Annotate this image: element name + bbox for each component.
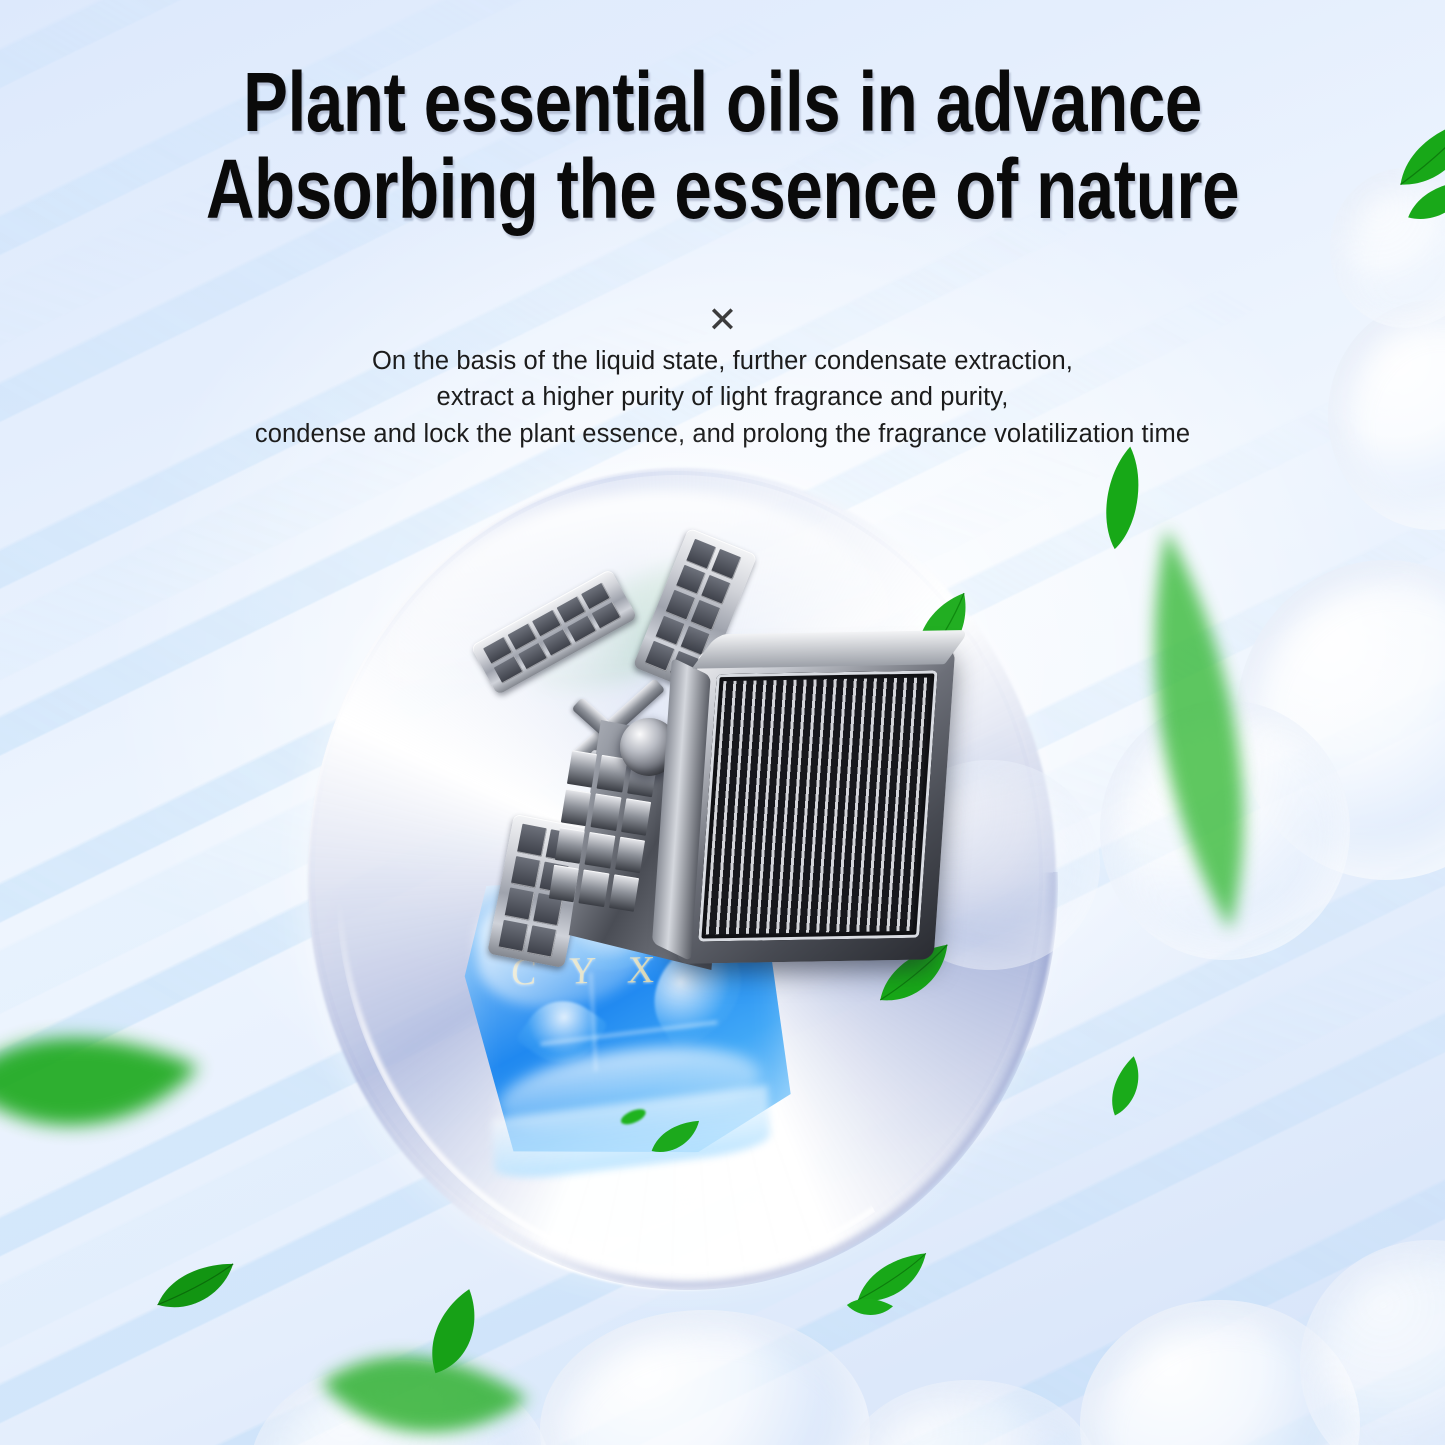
headline-line-1: Plant essential oils in advance [145,62,1301,143]
leaf-icon [0,959,215,1220]
leaf-icon [842,1285,897,1332]
bubble-shape [540,1310,870,1445]
leaf-icon [848,1249,939,1313]
leaf-icon [401,1281,510,1390]
solar-panel-top [692,630,970,669]
leaf-icon [1087,440,1159,555]
bubble-shape [840,1380,1100,1445]
headline-line-2: Absorbing the essence of nature [145,149,1301,230]
bubble-shape [1236,560,1445,880]
product-image: C Y X [440,520,940,1220]
description-block: On the basis of the liquid state, furthe… [0,343,1445,452]
bubble-shape [1100,700,1350,960]
windmill-blade [470,569,637,696]
description-line-1: On the basis of the liquid state, furthe… [0,343,1445,379]
bubble-shape [250,1360,550,1445]
headline: Plant essential oils in advance Absorbin… [0,62,1445,229]
leaf-icon [1092,1051,1162,1124]
description-line-3: condense and lock the plant essence, and… [0,416,1445,452]
solar-panel-housing [677,646,956,964]
product-marketing-banner: Plant essential oils in advance Absorbin… [0,0,1445,1445]
leaf-icon [147,1259,245,1319]
bubble-shape [1300,1240,1445,1445]
leaf-icon [1092,512,1299,949]
x-divider-icon: ✕ [0,302,1445,338]
description-line-2: extract a higher purity of light fragran… [0,379,1445,415]
windmill-assembly [440,520,940,990]
leaf-icon [299,1293,540,1445]
solar-panel-cell [698,670,938,941]
bubble-shape [1080,1300,1360,1445]
